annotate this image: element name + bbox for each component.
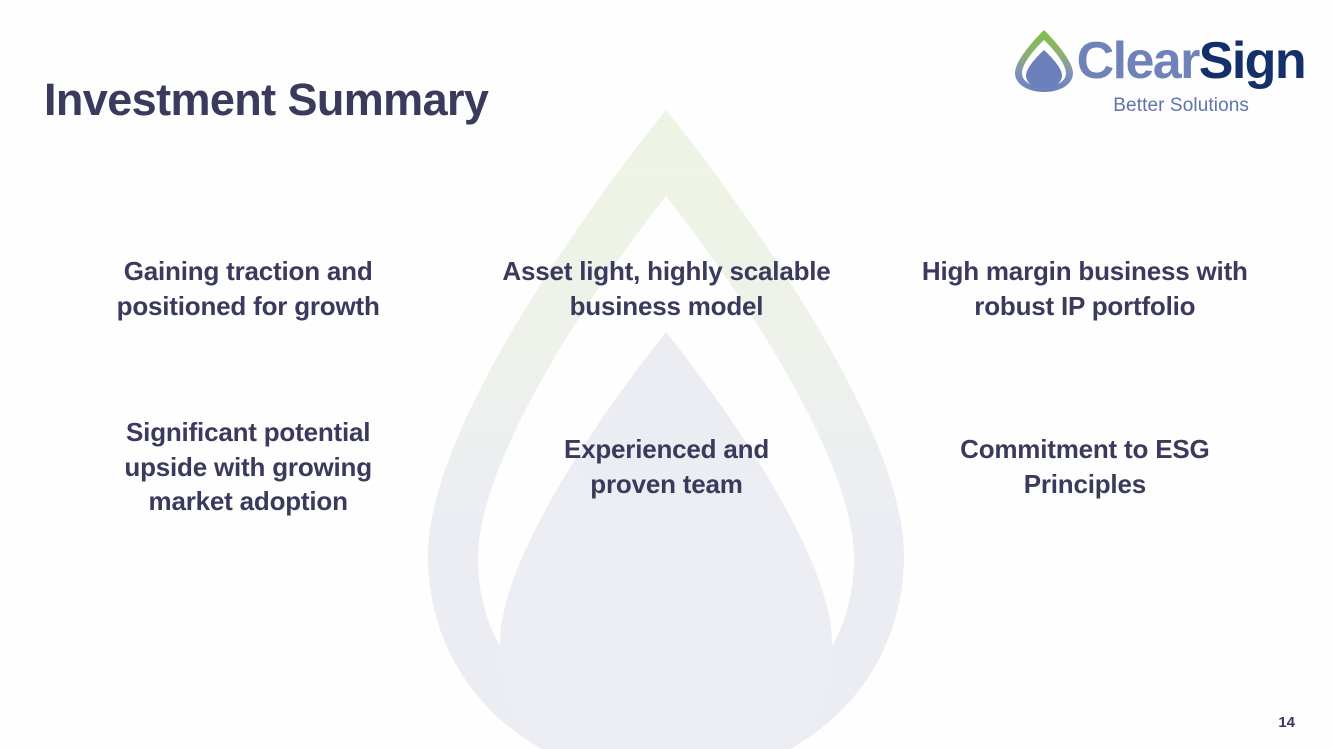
logo-word-sign: Sign bbox=[1199, 32, 1305, 90]
pillar-significant-upside: Significant potential upside with growin… bbox=[44, 426, 452, 616]
slide-investment-summary: Investment Summary C bbox=[0, 0, 1333, 749]
clearsign-logo: ClearSign Better Solutions bbox=[1013, 28, 1305, 117]
pillar-text: Asset light, highly scalable business mo… bbox=[481, 254, 851, 323]
logo-word-clear: Clear bbox=[1077, 32, 1199, 90]
pillar-gaining-traction: Gaining traction and positioned for grow… bbox=[44, 236, 452, 426]
logo-wordmark: ClearSign bbox=[1077, 35, 1305, 87]
page-title: Investment Summary bbox=[44, 74, 488, 126]
page-number: 14 bbox=[1278, 714, 1295, 731]
pillar-text: Experienced and proven team bbox=[526, 432, 806, 501]
pillar-asset-light: Asset light, highly scalable business mo… bbox=[462, 236, 870, 426]
pillar-text: Commitment to ESG Principles bbox=[940, 432, 1230, 501]
logo-main-row: ClearSign bbox=[1013, 28, 1305, 94]
pillars-grid: Gaining traction and positioned for grow… bbox=[44, 236, 1289, 616]
pillar-high-margin: High margin business with robust IP port… bbox=[881, 236, 1289, 426]
droplet-icon bbox=[1013, 28, 1075, 94]
pillar-experienced-team: Experienced and proven team bbox=[462, 426, 870, 616]
logo-tagline: Better Solutions bbox=[1113, 95, 1249, 117]
pillar-text: High margin business with robust IP port… bbox=[905, 254, 1265, 323]
pillar-esg-commitment: Commitment to ESG Principles bbox=[881, 426, 1289, 616]
pillar-text: Significant potential upside with growin… bbox=[88, 415, 408, 519]
pillar-text: Gaining traction and positioned for grow… bbox=[83, 254, 413, 323]
